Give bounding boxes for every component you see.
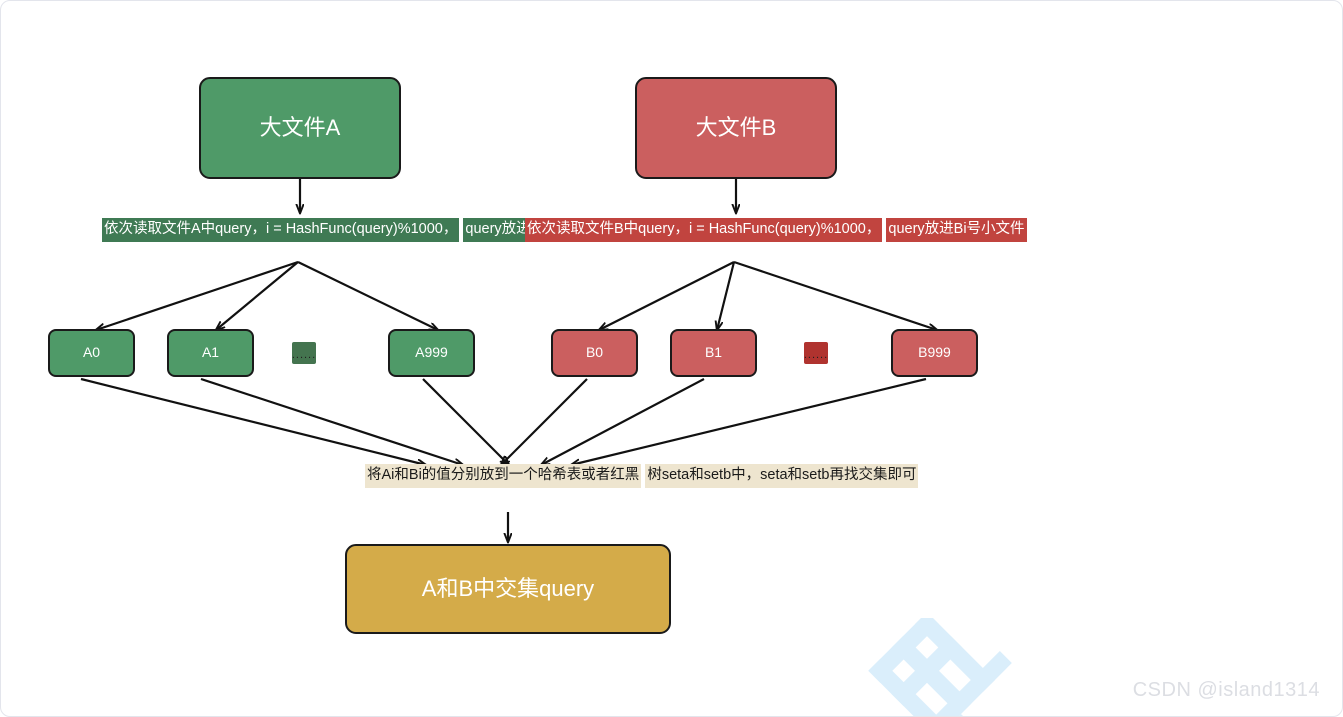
node-bucket-a0-label: A0	[83, 344, 100, 362]
node-result-label: A和B中交集query	[422, 575, 594, 603]
node-bucket-b999-label: B999	[918, 344, 951, 362]
bucket-ellipsis-a: ......	[292, 342, 316, 364]
node-big-file-a-label: 大文件A	[260, 114, 341, 142]
step-label-merge-line1: 将Ai和Bi的值分别放到一个哈希表或者红黑	[365, 464, 641, 488]
step-label-merge: 将Ai和Bi的值分别放到一个哈希表或者红黑 树seta和setb中，seta和s…	[365, 464, 918, 488]
step-label-split-a-line1: 依次读取文件A中query，i = HashFunc(query)%1000，	[102, 218, 459, 242]
step-label-split-b-line2: query放进Bi号小文件	[886, 218, 1026, 242]
node-bucket-b999[interactable]: B999	[891, 329, 978, 377]
node-bucket-b1-label: B1	[705, 344, 722, 362]
bucket-ellipsis-a-label: ......	[292, 350, 316, 361]
bucket-ellipsis-b: ......	[804, 342, 828, 364]
node-bucket-b1[interactable]: B1	[670, 329, 757, 377]
node-bucket-b0-label: B0	[586, 344, 603, 362]
node-bucket-a0[interactable]: A0	[48, 329, 135, 377]
node-result-intersection[interactable]: A和B中交集query	[345, 544, 671, 634]
csdn-watermark-text: CSDN @island1314	[1133, 679, 1320, 702]
step-label-merge-line2: 树seta和setb中，seta和setb再找交集即可	[645, 464, 918, 488]
node-big-file-b-label: 大文件B	[696, 114, 777, 142]
node-bucket-a1-label: A1	[202, 344, 219, 362]
node-bucket-a1[interactable]: A1	[167, 329, 254, 377]
node-bucket-a999-label: A999	[415, 344, 448, 362]
node-big-file-a[interactable]: 大文件A	[199, 77, 401, 179]
step-label-split-b-line1: 依次读取文件B中query，i = HashFunc(query)%1000，	[525, 218, 882, 242]
diagram-canvas: 大文件A 大文件B 依次读取文件A中query，i = HashFunc(que…	[0, 0, 1343, 717]
bucket-ellipsis-b-label: ......	[804, 350, 828, 361]
csdn-diamond-logo-icon	[857, 618, 1067, 717]
node-bucket-b0[interactable]: B0	[551, 329, 638, 377]
step-label-split-b: 依次读取文件B中query，i = HashFunc(query)%1000， …	[525, 218, 1027, 242]
node-big-file-b[interactable]: 大文件B	[635, 77, 837, 179]
node-bucket-a999[interactable]: A999	[388, 329, 475, 377]
